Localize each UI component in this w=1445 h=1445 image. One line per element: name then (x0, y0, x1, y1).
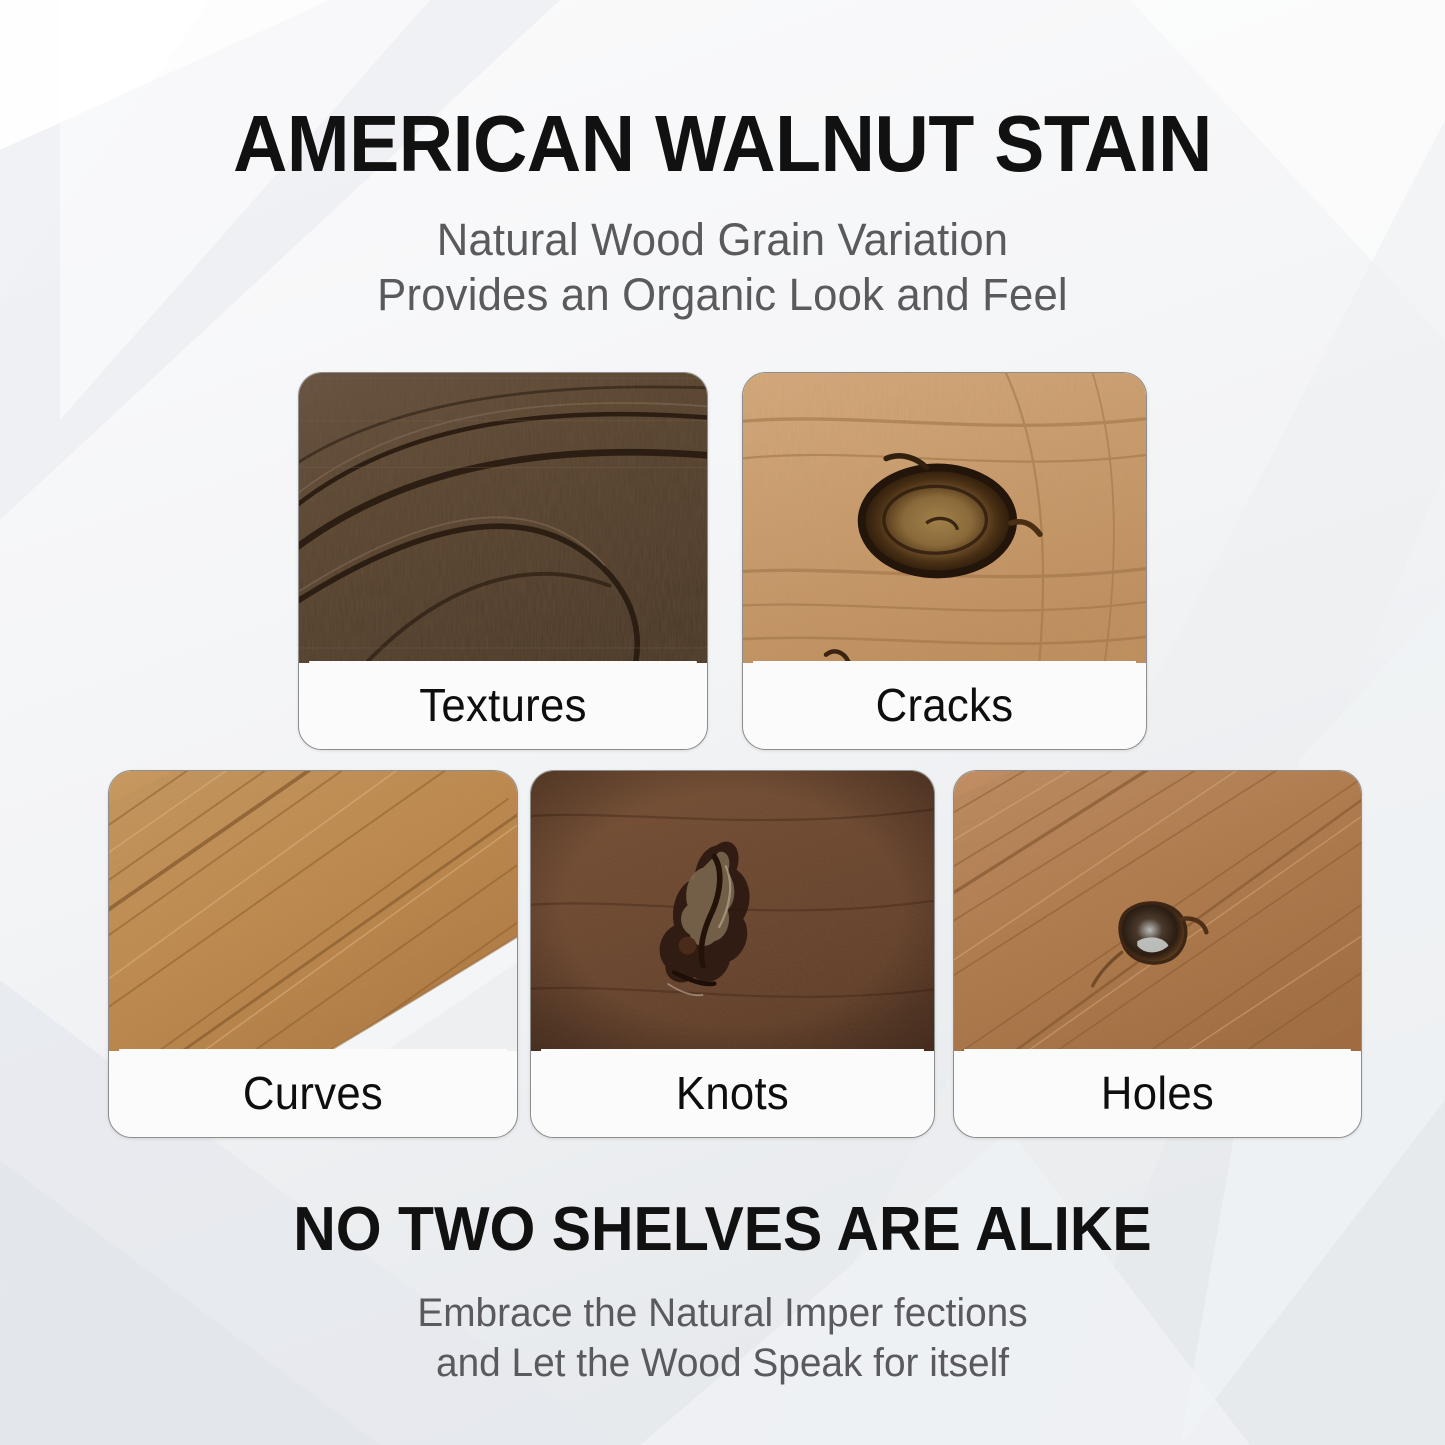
feature-label-curves: Curves (119, 1049, 507, 1137)
page-title: AMERICAN WALNUT STAIN (43, 96, 1401, 192)
subtitle-line-1: Natural Wood Grain Variation (22, 212, 1424, 267)
feature-card-holes[interactable]: Holes (953, 770, 1362, 1138)
subtitle-line-2: Provides an Organic Look and Feel (22, 267, 1424, 322)
feature-photo-textures (299, 373, 707, 663)
footer-subtitle: Embrace the Natural Imper fections and L… (22, 1288, 1424, 1388)
feature-label-textures: Textures (309, 661, 697, 749)
feature-label-cracks: Cracks (753, 661, 1136, 749)
feature-photo-knots (531, 771, 934, 1051)
feature-card-cracks[interactable]: Cracks (742, 372, 1147, 750)
feature-label-holes: Holes (964, 1049, 1351, 1137)
feature-photo-curves (109, 771, 517, 1051)
feature-photo-holes (954, 771, 1361, 1051)
feature-label-knots: Knots (541, 1049, 924, 1137)
page-subtitle: Natural Wood Grain Variation Provides an… (22, 212, 1424, 322)
footer-subtitle-line-2: and Let the Wood Speak for itself (22, 1338, 1424, 1388)
feature-photo-cracks (743, 373, 1146, 663)
footer-subtitle-line-1: Embrace the Natural Imper fections (22, 1288, 1424, 1338)
feature-card-textures[interactable]: Textures (298, 372, 708, 750)
footer-heading: NO TWO SHELVES ARE ALIKE (36, 1193, 1409, 1267)
feature-card-curves[interactable]: Curves (108, 770, 518, 1138)
feature-card-knots[interactable]: Knots (530, 770, 935, 1138)
